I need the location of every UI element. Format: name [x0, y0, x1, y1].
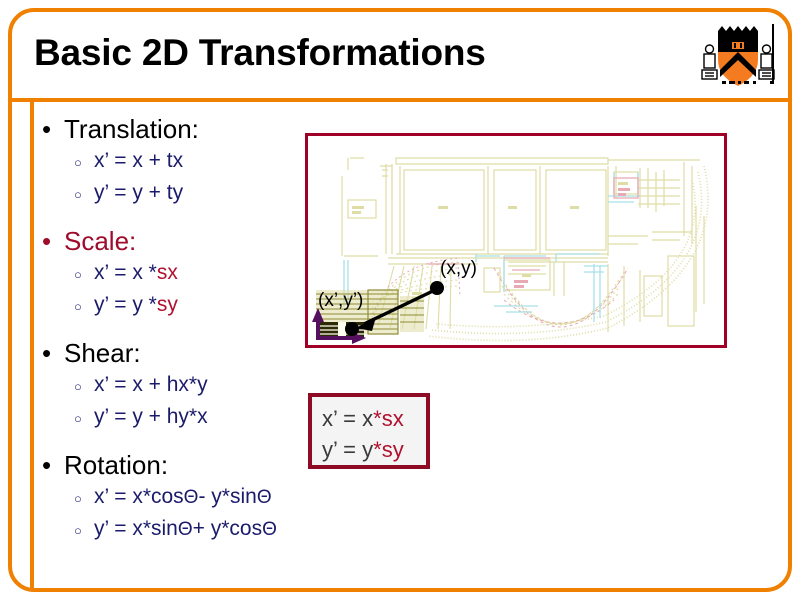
sub-bullet-marker-icon: ○ [74, 260, 94, 290]
slide-canvas: Basic 2D Transformations [0, 0, 800, 600]
shield-icon [698, 18, 782, 94]
formula-text: y’ = y + hy*x [94, 402, 208, 432]
callout-formula-x-accent: *sx [373, 406, 404, 431]
formula-text-mid: + y*cos [193, 514, 262, 544]
point-transformed-marker [345, 322, 359, 336]
sub-bullet-marker-icon: ○ [74, 148, 94, 178]
body-vertical-rule [30, 100, 34, 588]
theta-symbol: Θ [184, 483, 199, 513]
plan-text-labels-pink [514, 188, 630, 288]
formula-text-mid: - y*sin [198, 482, 256, 512]
formula-rotation-y: ○ y’ = x*sinΘ + y*cosΘ [74, 514, 372, 546]
theta-symbol: Θ [262, 515, 277, 545]
floor-plan-figure [305, 133, 727, 348]
floor-plan-drawing [308, 136, 724, 345]
bullet-scale-label: Scale: [64, 224, 136, 258]
title-divider-rule [10, 98, 790, 102]
sub-bullet-marker-icon: ○ [74, 180, 94, 210]
theta-symbol: Θ [257, 483, 272, 513]
plan-text-labels [352, 182, 628, 300]
formula-text: y’ = y + ty [94, 178, 183, 208]
formula-accent-sx: sx [157, 258, 178, 288]
formula-accent-sy: sy [157, 290, 178, 320]
princeton-shield-logo [698, 18, 782, 94]
sub-bullet-marker-icon: ○ [74, 372, 94, 402]
sub-bullet-marker-icon: ○ [74, 292, 94, 322]
formula-text: x’ = x*cos [94, 482, 184, 512]
label-original-point: (x,y) [440, 258, 477, 280]
bullet-marker-icon: • [42, 224, 64, 258]
page-title: Basic 2D Transformations [34, 32, 486, 74]
bullet-shear-label: Shear: [64, 336, 141, 370]
bullet-translation-label: Translation: [64, 112, 199, 146]
bullet-rotation-label: Rotation: [64, 448, 168, 482]
callout-formula-y-accent: *sy [373, 437, 404, 462]
sub-bullet-marker-icon: ○ [74, 484, 94, 514]
sub-bullet-marker-icon: ○ [74, 404, 94, 434]
callout-formula-y-main: y’ = y [322, 437, 373, 462]
scale-formula-callout: x’ = x*sx y’ = y*sy [308, 393, 430, 469]
formula-text: y’ = x*sin [94, 514, 178, 544]
formula-text: x’ = x + tx [94, 146, 183, 176]
sub-bullet-marker-icon: ○ [74, 516, 94, 546]
theta-symbol: Θ [178, 515, 193, 545]
seating-arcs-right [498, 272, 624, 325]
bullet-marker-icon: • [42, 448, 64, 482]
formula-text: y’ = y * [94, 290, 157, 320]
label-transformed-point: (x’,y’) [318, 290, 363, 312]
outer-curved-wall [428, 166, 708, 341]
callout-formula-y: y’ = y*sy [322, 434, 426, 465]
bullet-marker-icon: • [42, 112, 64, 146]
callout-formula-x-main: x’ = x [322, 406, 373, 431]
formula-text: x’ = x * [94, 258, 157, 288]
callout-formula-x: x’ = x*sx [322, 403, 426, 434]
formula-text: x’ = x + hx*y [94, 370, 208, 400]
formula-rotation-x: ○ x’ = x*cosΘ - y*sinΘ [74, 482, 372, 514]
bullet-marker-icon: • [42, 336, 64, 370]
